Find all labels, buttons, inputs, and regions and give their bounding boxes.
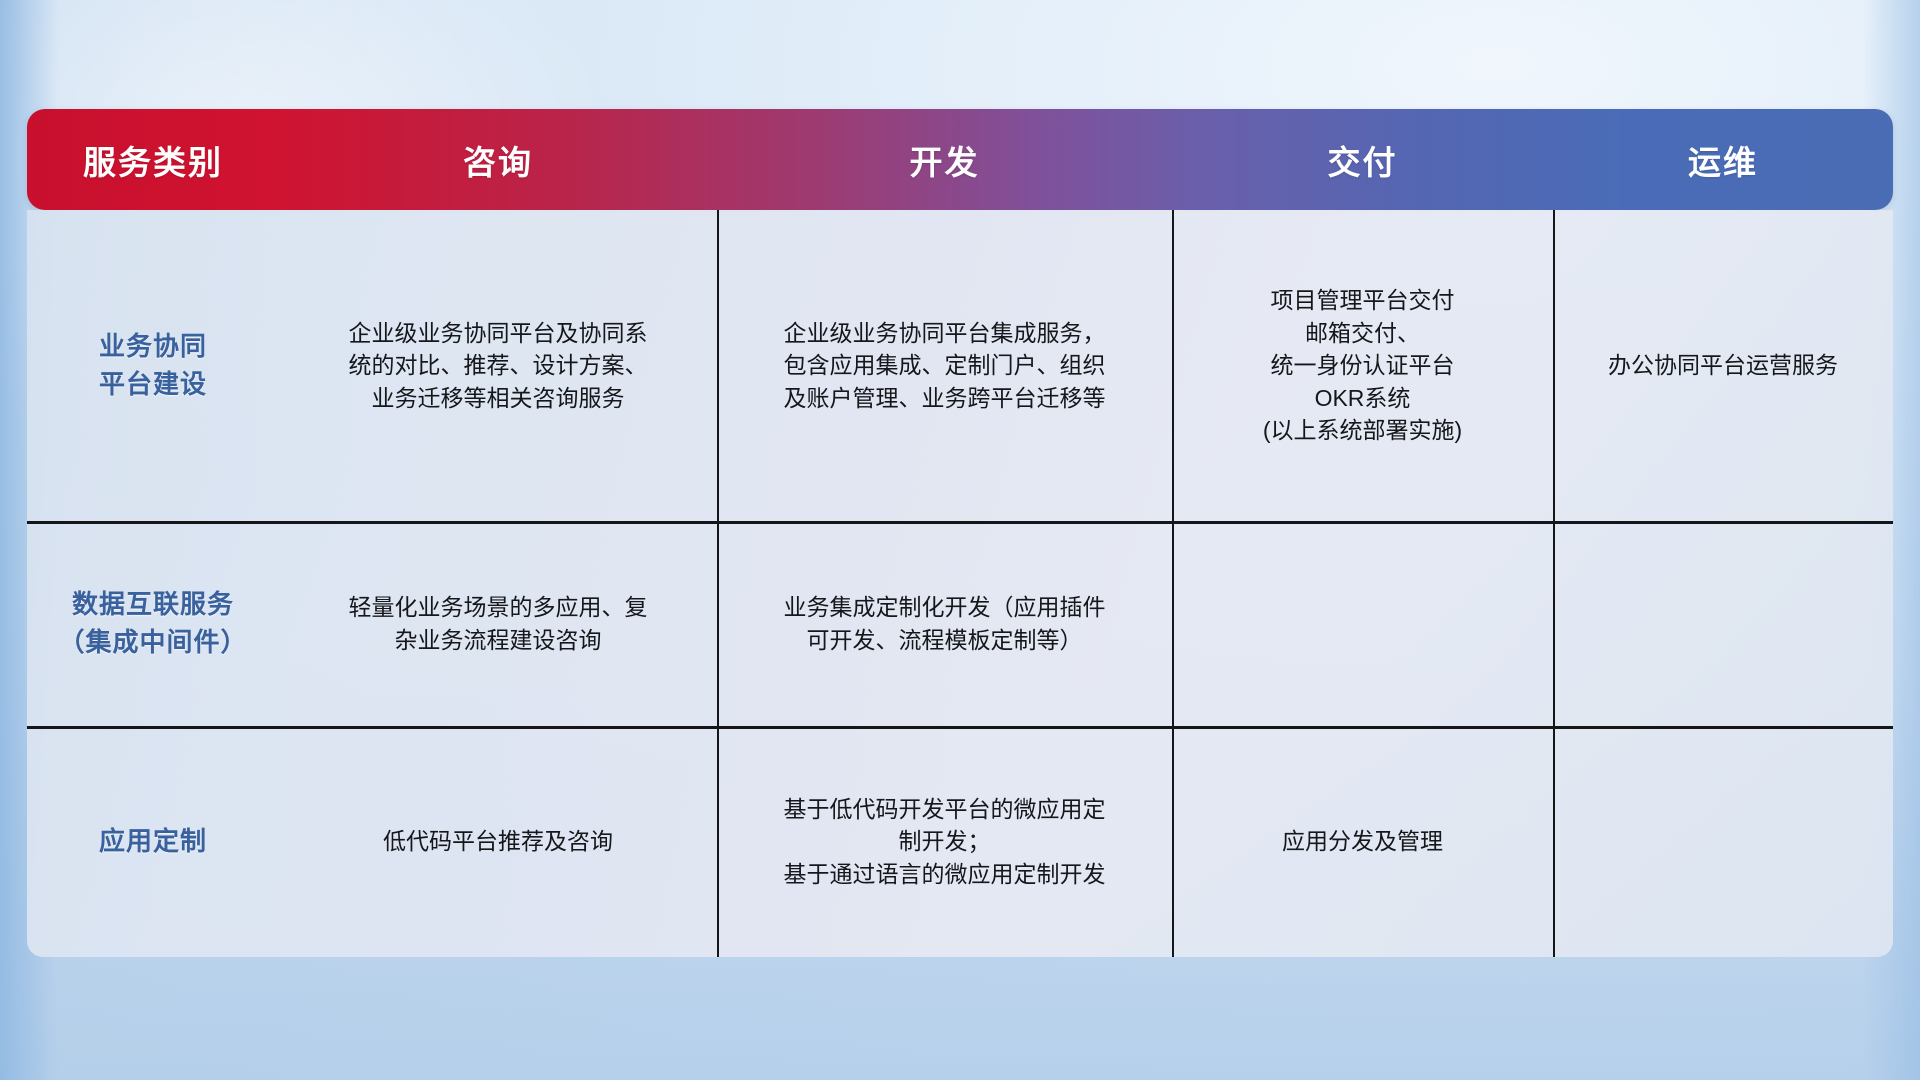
row-2-operations-cell (1553, 726, 1893, 957)
header-label-consulting: 咨询 (463, 144, 533, 181)
row-0-delivery-cell: 项目管理平台交付 邮箱交付、 统一身份认证平台 OKR系统 (以上系统部署实施) (1172, 210, 1553, 521)
row-1-consulting-text: 轻量化业务场景的多应用、复 杂业务流程建设咨询 (349, 591, 648, 656)
column-divider-2 (1172, 210, 1174, 957)
header-cell-operations: 运维 (1553, 136, 1893, 184)
row-1-consulting-cell: 轻量化业务场景的多应用、复 杂业务流程建设咨询 (279, 521, 717, 726)
row-2-development-cell: 基于低代码开发平台的微应用定 制开发； 基于通过语言的微应用定制开发 (717, 726, 1172, 957)
row-0-delivery-text: 项目管理平台交付 邮箱交付、 统一身份认证平台 OKR系统 (以上系统部署实施) (1263, 284, 1462, 447)
header-cell-consulting: 咨询 (279, 136, 717, 184)
row-divider-2 (27, 726, 1893, 729)
table-row: 数据互联服务 （集成中间件） 轻量化业务场景的多应用、复 杂业务流程建设咨询 业… (27, 521, 1893, 726)
header-label-operations: 运维 (1688, 144, 1758, 181)
row-1-category-label: 数据互联服务 （集成中间件） (58, 586, 247, 662)
row-2-delivery-text: 应用分发及管理 (1282, 825, 1443, 858)
row-2-consulting-cell: 低代码平台推荐及咨询 (279, 726, 717, 957)
header-cell-delivery: 交付 (1172, 136, 1553, 184)
row-1-development-text: 业务集成定制化开发（应用插件 可开发、流程模板定制等） (784, 591, 1106, 656)
row-2-consulting-text: 低代码平台推荐及咨询 (383, 825, 613, 858)
row-0-operations-cell: 办公协同平台运营服务 (1553, 210, 1893, 521)
row-2-delivery-cell: 应用分发及管理 (1172, 726, 1553, 957)
row-0-development-cell: 企业级业务协同平台集成服务， 包含应用集成、定制门户、组织 及账户管理、业务跨平… (717, 210, 1172, 521)
table-row: 应用定制 低代码平台推荐及咨询 基于低代码开发平台的微应用定 制开发； 基于通过… (27, 726, 1893, 957)
row-0-development-text: 企业级业务协同平台集成服务， 包含应用集成、定制门户、组织 及账户管理、业务跨平… (784, 317, 1106, 415)
header-label-delivery: 交付 (1328, 144, 1398, 181)
table-row: 业务协同 平台建设 企业级业务协同平台及协同系 统的对比、推荐、设计方案、 业务… (27, 210, 1893, 521)
row-0-category-cell: 业务协同 平台建设 (27, 210, 279, 521)
table-header-row: 服务类别 咨询 开发 交付 运维 (27, 109, 1893, 210)
row-0-category-label: 业务协同 平台建设 (99, 328, 207, 404)
row-0-consulting-cell: 企业级业务协同平台及协同系 统的对比、推荐、设计方案、 业务迁移等相关咨询服务 (279, 210, 717, 521)
header-cell-development: 开发 (717, 136, 1172, 184)
row-1-operations-cell (1553, 521, 1893, 726)
row-2-category-label: 应用定制 (99, 823, 207, 861)
row-0-operations-text: 办公协同平台运营服务 (1608, 349, 1838, 382)
table-body: 业务协同 平台建设 企业级业务协同平台及协同系 统的对比、推荐、设计方案、 业务… (27, 210, 1893, 957)
header-label-service-category: 服务类别 (83, 144, 223, 181)
row-2-category-cell: 应用定制 (27, 726, 279, 957)
header-label-development: 开发 (910, 144, 980, 181)
row-1-delivery-cell (1172, 521, 1553, 726)
row-2-development-text: 基于低代码开发平台的微应用定 制开发； 基于通过语言的微应用定制开发 (784, 793, 1106, 891)
header-cell-service-category: 服务类别 (27, 136, 279, 184)
row-divider-1 (27, 521, 1893, 524)
row-1-development-cell: 业务集成定制化开发（应用插件 可开发、流程模板定制等） (717, 521, 1172, 726)
row-0-consulting-text: 企业级业务协同平台及协同系 统的对比、推荐、设计方案、 业务迁移等相关咨询服务 (349, 317, 648, 415)
row-1-category-cell: 数据互联服务 （集成中间件） (27, 521, 279, 726)
column-divider-3 (1553, 210, 1555, 957)
service-matrix-table: 服务类别 咨询 开发 交付 运维 业务协同 平台建设 企业级业务协同平台及协同系… (27, 109, 1893, 957)
column-divider-1 (717, 210, 719, 957)
